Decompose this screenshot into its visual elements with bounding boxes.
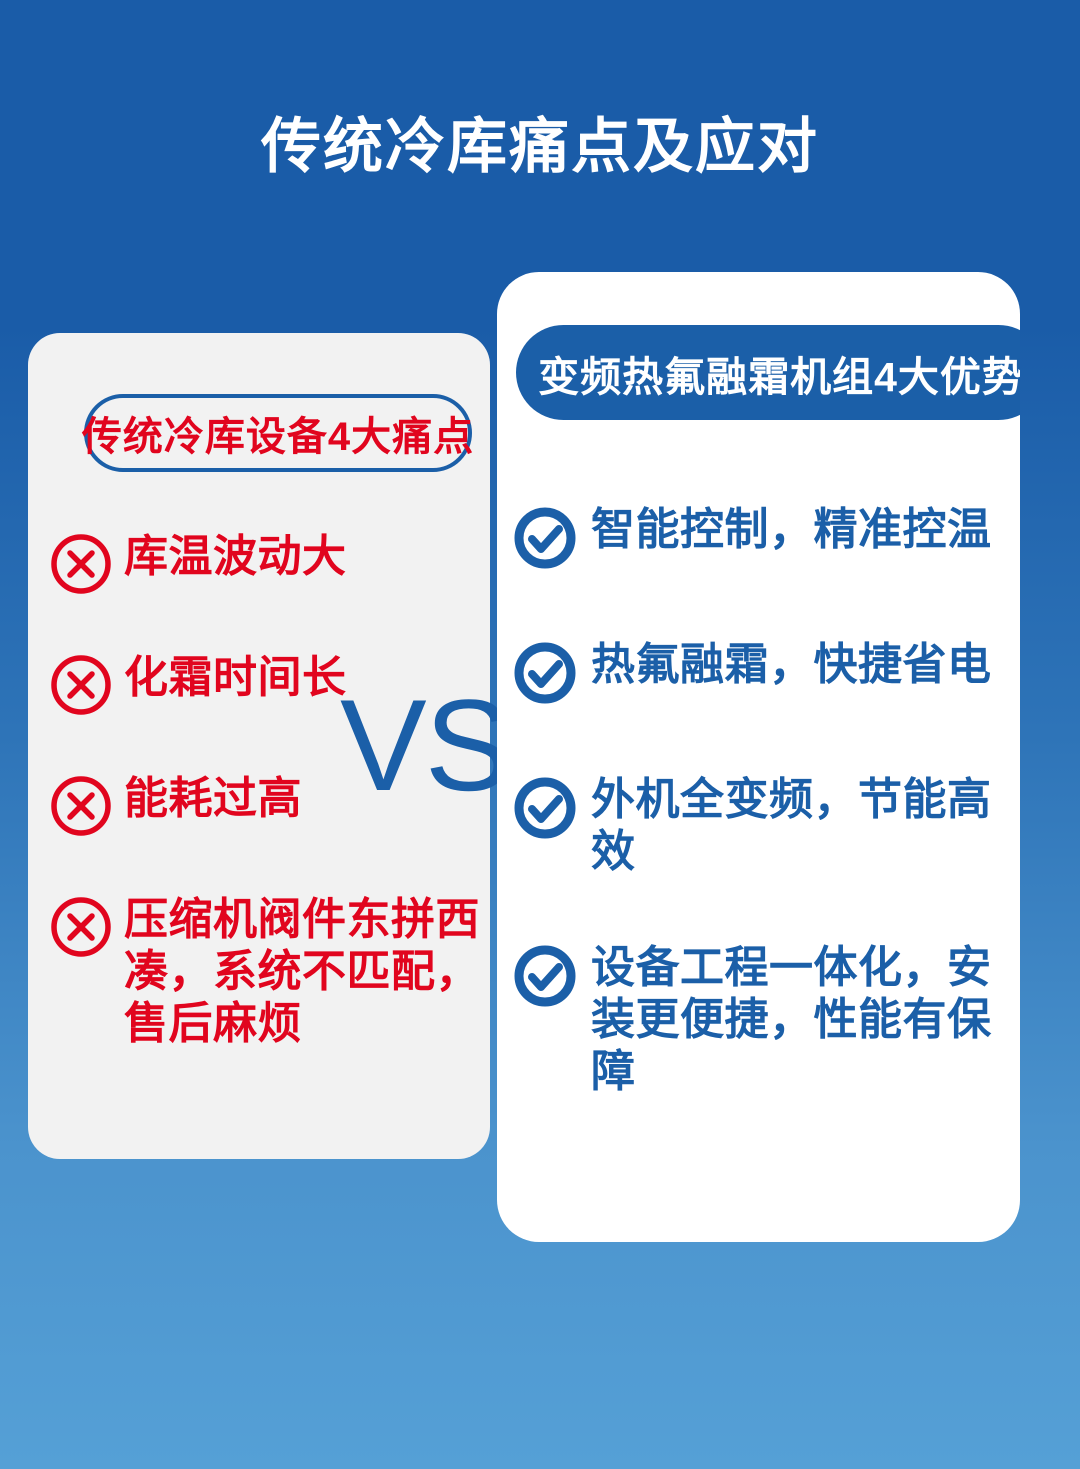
circle-check-icon — [513, 506, 577, 575]
circle-x-icon — [50, 533, 112, 600]
circle-x-icon — [50, 896, 112, 963]
list-item: 库温波动大 — [50, 531, 490, 600]
circle-check-icon — [513, 944, 577, 1013]
list-item-label: 设备工程一体化，安装更便捷，性能有保障 — [591, 942, 1020, 1098]
poster-root: 传统冷库痛点及应对 传统冷库设备4大痛点 库温波动大 — [0, 0, 1080, 1469]
advantages-heading-pill: 变频热氟融霜机组4大优势 — [516, 325, 1020, 420]
advantages-list: 智能控制，精准控温 热氟融霜，快捷省电 外机 — [513, 504, 1020, 1098]
list-item-label: 库温波动大 — [124, 531, 490, 583]
circle-x-icon — [50, 775, 112, 842]
pain-points-heading-label: 传统冷库设备4大痛点 — [82, 404, 474, 462]
advantages-card: 变频热氟融霜机组4大优势 智能控制，精准控温 — [497, 272, 1020, 1242]
list-item: 设备工程一体化，安装更便捷，性能有保障 — [513, 942, 1020, 1098]
circle-check-icon — [513, 776, 577, 845]
circle-x-icon — [50, 654, 112, 721]
pain-points-heading-pill: 传统冷库设备4大痛点 — [84, 394, 472, 472]
list-item-label: 智能控制，精准控温 — [591, 504, 1020, 556]
list-item: 外机全变频，节能高效 — [513, 774, 1020, 878]
list-item: 智能控制，精准控温 — [513, 504, 1020, 575]
list-item: 压缩机阀件东拼西凑，系统不匹配，售后麻烦 — [50, 894, 490, 1050]
list-item-label: 外机全变频，节能高效 — [591, 774, 1020, 878]
list-item-label: 压缩机阀件东拼西凑，系统不匹配，售后麻烦 — [124, 894, 490, 1050]
page-title: 传统冷库痛点及应对 — [0, 112, 1080, 181]
list-item: 热氟融霜，快捷省电 — [513, 639, 1020, 710]
advantages-heading-label: 变频热氟融霜机组4大优势 — [538, 343, 1020, 403]
list-item-label: 热氟融霜，快捷省电 — [591, 639, 1020, 691]
circle-check-icon — [513, 641, 577, 710]
vs-label: VS — [340, 680, 509, 810]
